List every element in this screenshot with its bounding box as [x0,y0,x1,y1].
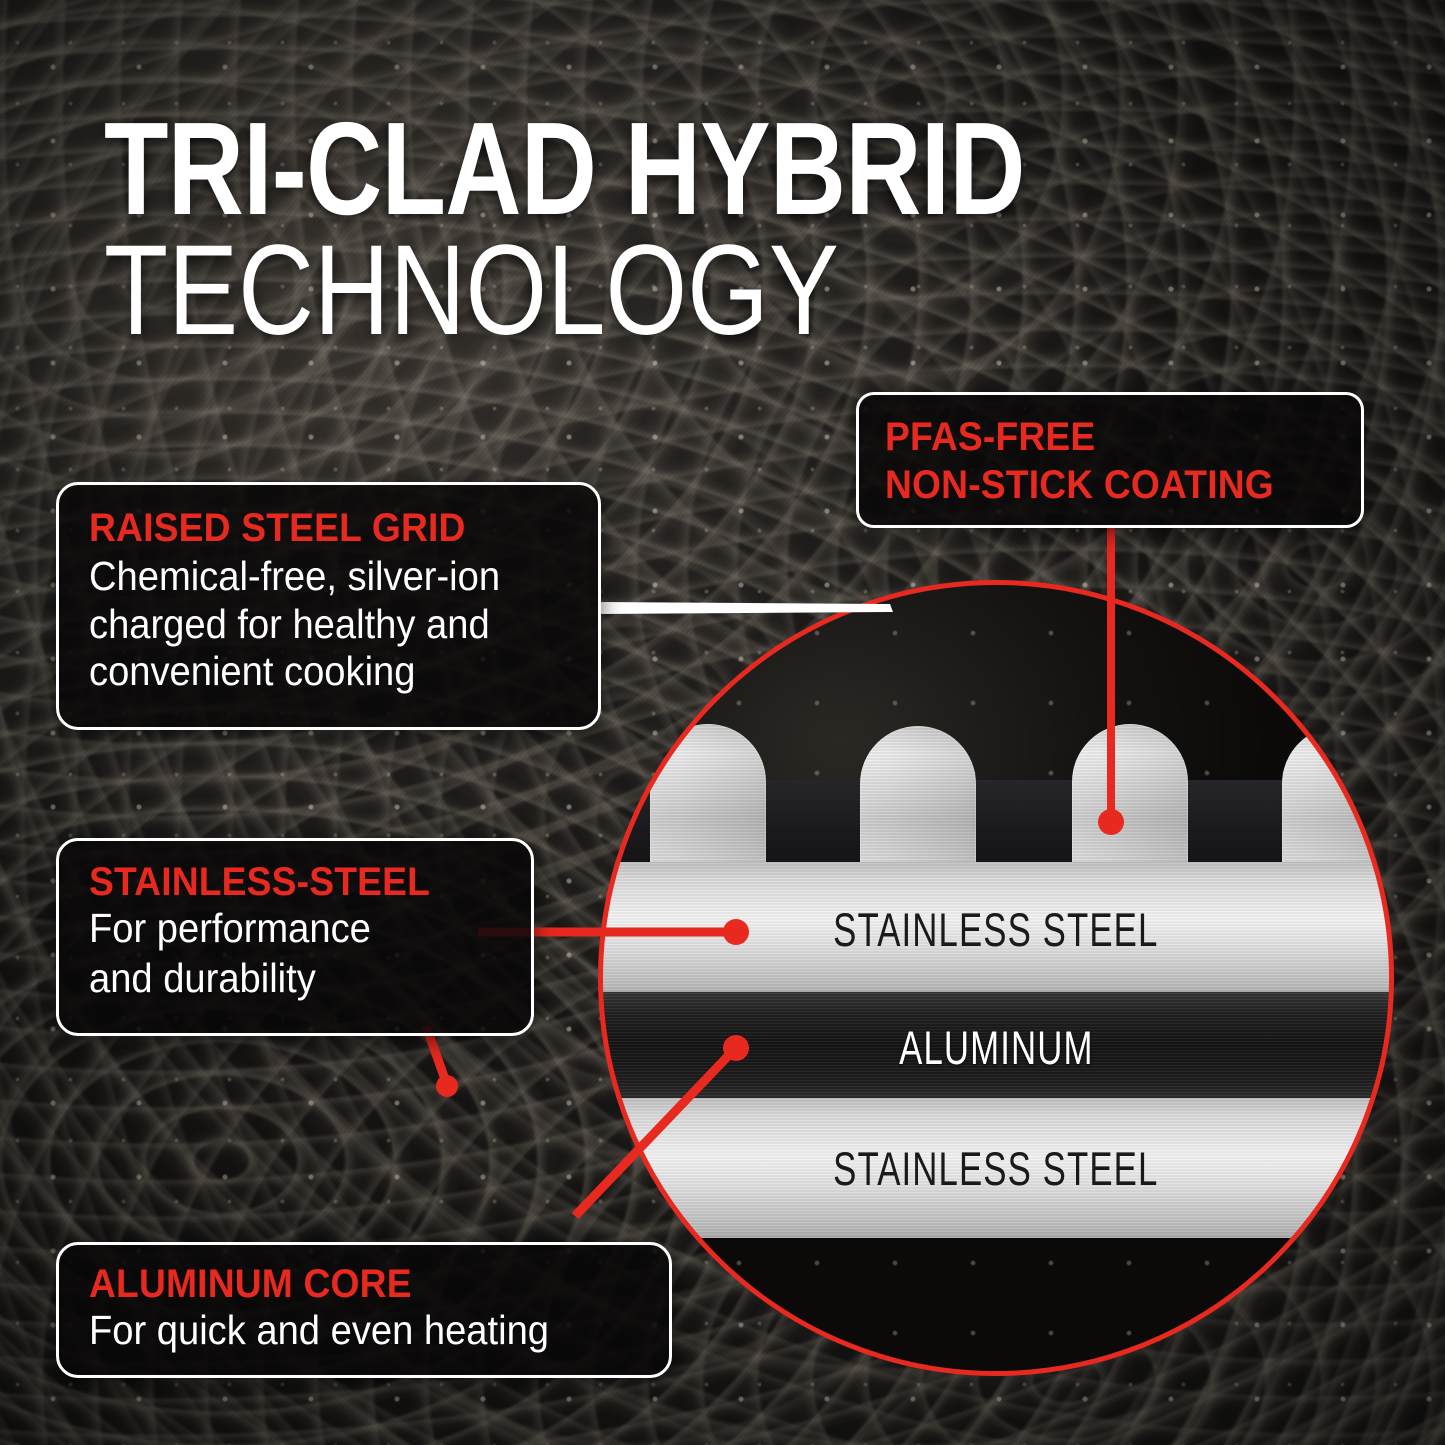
layer-label-aluminum: ALUMINUM [899,1020,1093,1075]
title-line-1: TRI-CLAD HYBRID [104,104,952,233]
callout-raised-steel-grid[interactable]: RAISED STEEL GRID Chemical-free, silver-… [56,482,601,730]
callout-body-stainless-steel-line2: and durability [89,955,480,1003]
callout-heading-aluminum-core: ALUMINUM CORE [89,1263,608,1305]
callout-body-stainless-steel-line1: For performance [89,905,480,953]
steel-grid-pillar [1072,724,1188,884]
callout-pfas-free[interactable]: PFAS-FREE NON-STICK COATING [856,392,1364,528]
cross-section-diagram: STAINLESS STEEL ALUMINUM STAINLESS STEEL [602,584,1390,1372]
layer-aluminum-core: ALUMINUM [602,992,1390,1102]
infographic-canvas: STAINLESS STEEL ALUMINUM STAINLESS STEEL… [0,0,1445,1445]
title-line-2: TECHNOLOGY [104,227,973,355]
callout-stainless-steel[interactable]: STAINLESS-STEEL For performance and dura… [56,838,534,1036]
layer-stainless-lower: STAINLESS STEEL [602,1098,1390,1238]
steel-grid-pillar [1282,726,1390,884]
page-title: TRI-CLAD HYBRID TECHNOLOGY [104,104,1164,355]
callout-aluminum-core[interactable]: ALUMINUM CORE For quick and even heating [56,1242,672,1378]
layer-label-stainless-lower: STAINLESS STEEL [833,1141,1158,1196]
callout-heading-pfas-free-line1: PFAS-FREE [885,413,1311,461]
callout-body-raised-steel-grid: Chemical-free, silver-ion charged for he… [89,553,542,696]
callout-heading-pfas-free-line2: NON-STICK COATING [885,461,1311,509]
layer-label-stainless-upper: STAINLESS STEEL [833,902,1158,957]
steel-grid-pillar [650,724,766,884]
layer-stainless-upper: STAINLESS STEEL [602,862,1390,996]
steel-grid-pillar [860,726,976,884]
callout-body-aluminum-core: For quick and even heating [89,1307,608,1355]
callout-heading-stainless-steel: STAINLESS-STEEL [89,861,480,903]
callout-heading-raised-steel-grid: RAISED STEEL GRID [89,507,542,549]
